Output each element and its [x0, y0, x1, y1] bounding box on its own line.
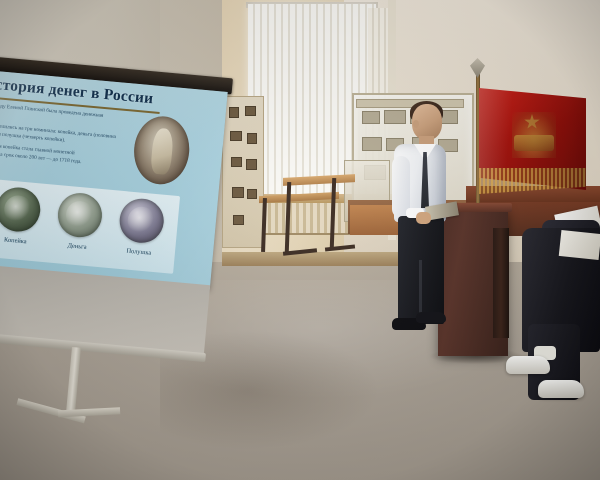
screen-surface: История денег в России В 1534 году Елено…: [0, 70, 228, 289]
presentation-room-photo: История денег в России В 1534 году Елено…: [0, 0, 600, 480]
speaker-ear: [413, 120, 419, 128]
coin-label: Полушка: [113, 246, 165, 258]
coin-kopeyka: [0, 186, 42, 234]
coin-relief: [126, 206, 156, 236]
coin-relief: [65, 200, 95, 230]
slide-body-line: В 1534 году Еленой Глинской была проведе…: [0, 102, 104, 119]
case-exhibit: [362, 111, 380, 124]
banner-sheen: [479, 88, 586, 190]
seated-sneaker: [538, 380, 584, 398]
coin-relief: [3, 194, 33, 224]
coin-label: Деньга: [51, 241, 103, 253]
speaker-shoe: [416, 312, 446, 323]
student-presenter: [386, 104, 458, 354]
coin-label: Копейка: [0, 235, 42, 247]
panel-chip: [233, 215, 244, 225]
panel-chip: [246, 159, 257, 170]
portrait-figure: [150, 128, 174, 176]
speaker-hand: [416, 212, 431, 224]
tripod-projection-screen: История денег в России В 1534 году Елено…: [0, 56, 247, 379]
case-exhibit: [362, 137, 382, 151]
coin-denga: [56, 191, 104, 239]
seated-sneaker: [506, 356, 550, 374]
panel-chip: [247, 189, 257, 199]
slide-portrait-oval: [131, 114, 192, 187]
coin-polushka: [118, 197, 166, 245]
panel-chip: [245, 106, 256, 116]
panel-chip: [247, 133, 257, 144]
presentation-slide: История денег в России В 1534 году Елено…: [0, 70, 228, 289]
seated-papers-lower: [559, 230, 600, 260]
slide-coin-row: Копейка Деньга Полушка: [0, 178, 180, 273]
seated-audience-member: [498, 228, 600, 408]
